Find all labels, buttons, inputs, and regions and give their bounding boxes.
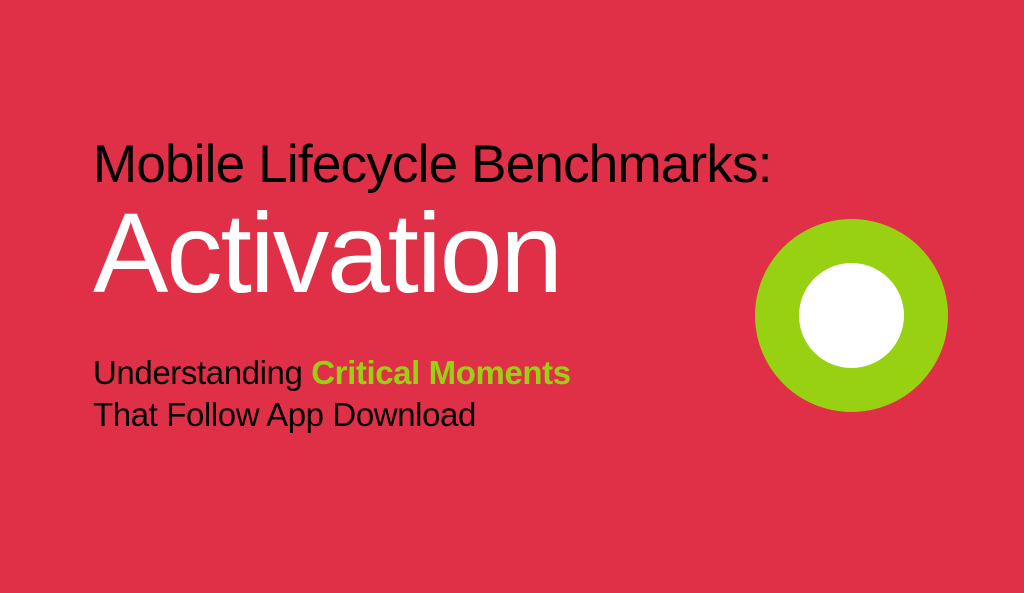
subtitle-line-1-prefix: Understanding [93, 354, 311, 391]
subtitle-emphasis: Critical Moments [311, 354, 571, 391]
slide-headline: Activation [93, 193, 813, 310]
title-text-block: Mobile Lifecycle Benchmarks: Activation … [93, 138, 813, 435]
subtitle-line-1: Understanding Critical Moments [93, 352, 813, 394]
donut-hole [799, 263, 904, 368]
slide-subtitle: Understanding Critical Moments That Foll… [93, 352, 813, 435]
donut-circle-icon [755, 219, 948, 412]
slide-eyebrow: Mobile Lifecycle Benchmarks: [93, 138, 813, 191]
title-slide: Mobile Lifecycle Benchmarks: Activation … [0, 0, 1024, 593]
subtitle-line-2: That Follow App Download [93, 394, 813, 436]
